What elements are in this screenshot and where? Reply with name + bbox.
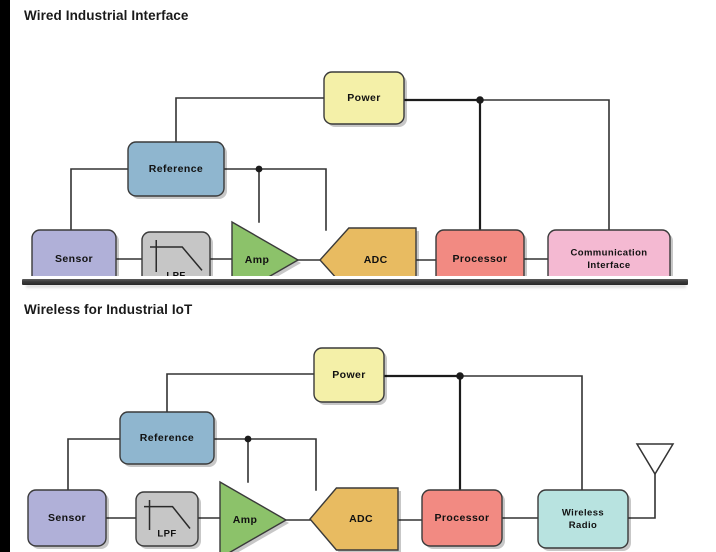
block-adc[interactable]: ADC <box>310 488 401 552</box>
wire-reference-to-adc <box>248 439 316 490</box>
wire-reference-to-sensor <box>68 439 120 490</box>
diagram-page: Wired Industrial Interface SensorLPFAmpA… <box>0 0 716 552</box>
wire-power-to-processor <box>384 376 460 490</box>
wire-reference-to-adc <box>259 169 326 230</box>
block-label-sensor: Sensor <box>48 512 86 524</box>
junction-ref-branch-node <box>256 166 263 173</box>
antenna-icon <box>637 444 673 474</box>
block-reference[interactable]: Reference <box>120 412 217 467</box>
block-amp[interactable]: Amp <box>232 222 301 276</box>
junction-ref-branch-node <box>245 436 252 443</box>
wire-power-to-communication <box>480 100 609 230</box>
section-divider <box>0 276 716 290</box>
section-title-wired: Wired Industrial Interface <box>24 8 189 23</box>
wire-reference-to-sensor <box>71 169 128 230</box>
divider-shadow <box>26 285 686 289</box>
block-adc[interactable]: ADC <box>320 228 419 276</box>
block-sensor[interactable]: Sensor <box>32 230 119 276</box>
block-label-processor: Processor <box>453 253 508 265</box>
block-communication[interactable]: CommunicationInterface <box>548 230 673 276</box>
block-label-adc: ADC <box>364 254 388 266</box>
block-label-amp: Amp <box>233 514 258 526</box>
block-processor[interactable]: Processor <box>422 490 505 549</box>
wire-power-to-radio <box>460 376 582 490</box>
block-label-adc: ADC <box>349 513 373 525</box>
section-wired-industrial-interface: Wired Industrial Interface SensorLPFAmpA… <box>0 0 716 276</box>
block-processor[interactable]: Processor <box>436 230 527 276</box>
block-label-wireless_radio: Wireless <box>562 507 604 518</box>
junction-power-branch-node <box>476 96 484 104</box>
block-power[interactable]: Power <box>314 348 387 405</box>
block-label-power: Power <box>332 369 366 381</box>
wire-reference-to-amp <box>214 439 248 482</box>
wire-power-to-processor <box>404 100 480 230</box>
block-label-sensor: Sensor <box>55 253 93 265</box>
block-body-lpf[interactable] <box>142 232 210 276</box>
block-amp[interactable]: Amp <box>220 482 289 552</box>
wire-power-to-reference <box>176 98 324 142</box>
block-label-wireless_radio: Radio <box>569 520 597 531</box>
junction-power-branch-node <box>456 372 464 380</box>
block-label-amp: Amp <box>245 254 270 266</box>
block-label-communication: Interface <box>587 260 630 271</box>
block-body-adc[interactable] <box>320 228 416 276</box>
block-diagram-wired: SensorLPFAmpADCProcessorCommunicationInt… <box>0 30 716 276</box>
block-lpf[interactable]: LPF <box>142 232 213 276</box>
block-reference[interactable]: Reference <box>128 142 227 199</box>
section-title-wireless: Wireless for Industrial IoT <box>24 302 192 317</box>
block-label-reference: Reference <box>149 163 203 175</box>
section-wireless-industrial-iot: Wireless for Industrial IoT SensorLPFAmp… <box>0 290 716 552</box>
wire-power-to-reference <box>167 374 314 412</box>
block-label-processor: Processor <box>435 512 490 524</box>
block-sensor[interactable]: Sensor <box>28 490 109 549</box>
block-label-communication: Communication <box>571 247 648 258</box>
block-label-power: Power <box>347 92 381 104</box>
block-label-reference: Reference <box>140 432 194 444</box>
wire-reference-to-amp <box>224 169 259 222</box>
block-diagram-wireless: SensorLPFAmpADCProcessorWirelessRadioRef… <box>0 322 716 552</box>
block-wireless_radio[interactable]: WirelessRadio <box>538 490 631 551</box>
block-lpf[interactable]: LPF <box>136 492 201 549</box>
wire-radio-to-antenna <box>628 474 655 518</box>
block-power[interactable]: Power <box>324 72 407 127</box>
block-label-lpf: LPF <box>157 529 176 540</box>
